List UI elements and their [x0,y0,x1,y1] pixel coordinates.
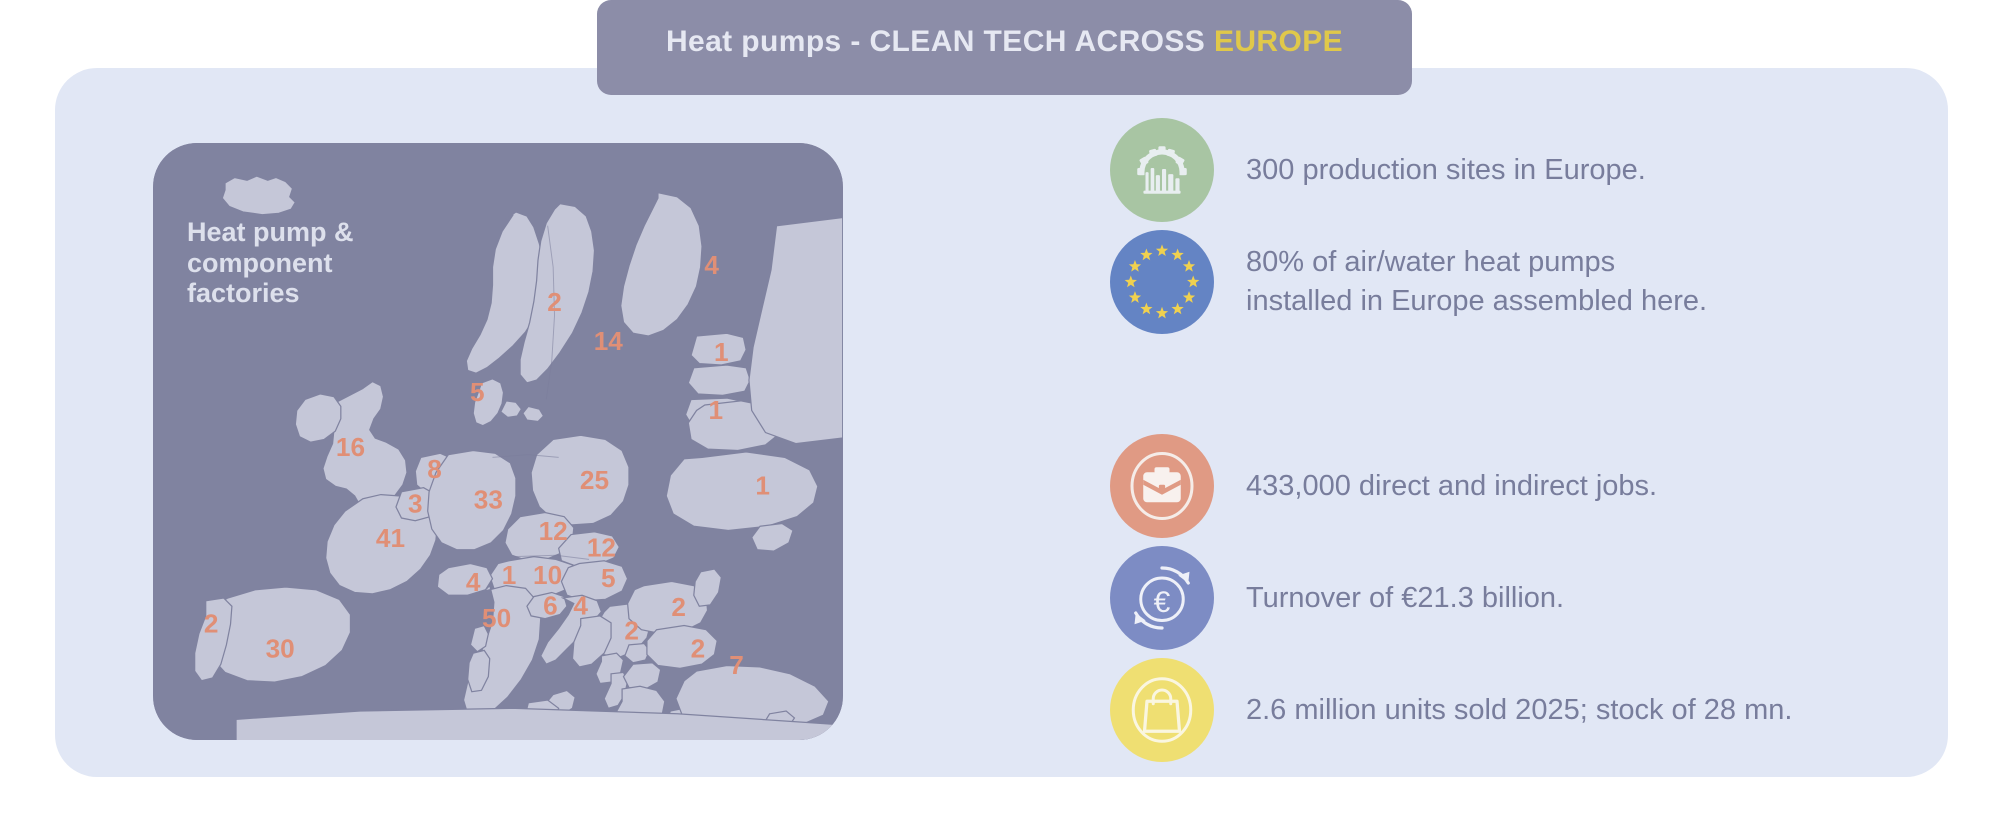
eu-flag-icon [1110,230,1214,334]
stat-text-production-sites: 300 production sites in Europe. [1246,151,1646,190]
eu-star [1156,244,1168,256]
stat-row-jobs: 433,000 direct and indirect jobs. [1110,434,1910,538]
eu-star [1156,307,1168,319]
country-latvia [688,365,750,395]
map-number-denmark: 5 [470,377,485,407]
eu-star [1129,291,1141,303]
europe-map-svg: 21441151683332512125104164504130222271 [153,143,843,740]
map-number-poland: 25 [580,465,609,495]
map-number-slovakia: 12 [587,533,616,563]
map-number-bulgaria: 2 [691,633,706,663]
title-accent: EUROPE [1214,25,1343,58]
title-bar: Heat pumps - CLEAN TECH ACROSS EUROPE [597,0,1412,95]
shopping-bag-glyph [1122,670,1202,750]
stat-row-production-sites: 300 production sites in Europe. [1110,118,1910,222]
map-number-austria: 10 [533,560,562,590]
map-number-spain: 30 [266,633,295,663]
map-number-sweden: 14 [594,326,624,356]
map-number-italy: 50 [482,603,511,633]
briefcase-icon [1110,434,1214,538]
eu-star [1125,276,1137,288]
factory-gear-glyph [1129,137,1195,203]
stat-row-units-sold: 2.6 million units sold 2025; stock of 28… [1110,658,1910,762]
map-number-germany: 33 [474,484,503,514]
map-number-turkey: 7 [729,650,744,680]
stat-row-eu-share: 80% of air/water heat pumps installed in… [1110,230,1910,334]
eu-star [1183,291,1195,303]
map-number-portugal: 2 [204,608,219,638]
eu-star [1183,260,1195,272]
stat-text-jobs: 433,000 direct and indirect jobs. [1246,467,1657,506]
page-title: Heat pumps - CLEAN TECH ACROSS EUROPE [666,25,1343,59]
stat-row-turnover: € Turnover of €21.3 billion. [1110,546,1910,650]
map-number-finland: 4 [704,250,719,280]
euro-refresh-icon: € [1110,546,1214,650]
map-number-latvia: 1 [709,395,724,425]
eu-star [1140,249,1152,261]
title-main: Heat pumps - CLEAN TECH ACROSS [666,25,1214,58]
eu-star [1140,303,1152,315]
shopping-bag-icon [1110,658,1214,762]
stat-text-turnover: Turnover of €21.3 billion. [1246,579,1564,618]
stat-text-units-sold: 2.6 million units sold 2025; stock of 28… [1246,691,1792,730]
map-number-hungary: 5 [601,563,616,593]
briefcase-glyph [1122,446,1202,526]
eu-star [1187,276,1199,288]
svg-text:€: € [1154,586,1171,619]
map-number-czechia: 12 [539,516,568,546]
map-number-estonia: 1 [714,337,729,367]
map-number-belgium: 3 [408,489,423,519]
stats-column: 300 production sites in Europe. 80% of a… [1110,118,1910,770]
stats-spacer [1110,342,1910,434]
eu-star [1171,249,1183,261]
map-number-netherlands: 8 [427,454,442,484]
map-number-united-kingdom: 16 [336,432,365,462]
map-number-romania: 2 [671,592,686,622]
factory-gear-icon [1110,118,1214,222]
map-number-france: 41 [376,523,405,553]
stat-text-eu-share: 80% of air/water heat pumps installed in… [1246,243,1707,321]
eu-star [1171,303,1183,315]
map-number-ukraine: 1 [755,471,770,501]
eu-star [1129,260,1141,272]
map-number-liechtenstein: 1 [502,560,517,590]
map-number-croatia: 4 [573,591,588,621]
eu-stars-glyph [1110,230,1214,334]
map-number-serbia: 2 [624,615,639,645]
map-number-switzerland: 4 [466,567,481,597]
map-number-slovenia: 6 [543,591,558,621]
europe-map-panel: 21441151683332512125104164504130222271 H… [153,143,843,740]
map-number-norway: 2 [547,287,562,317]
euro-refresh-glyph: € [1122,558,1202,638]
